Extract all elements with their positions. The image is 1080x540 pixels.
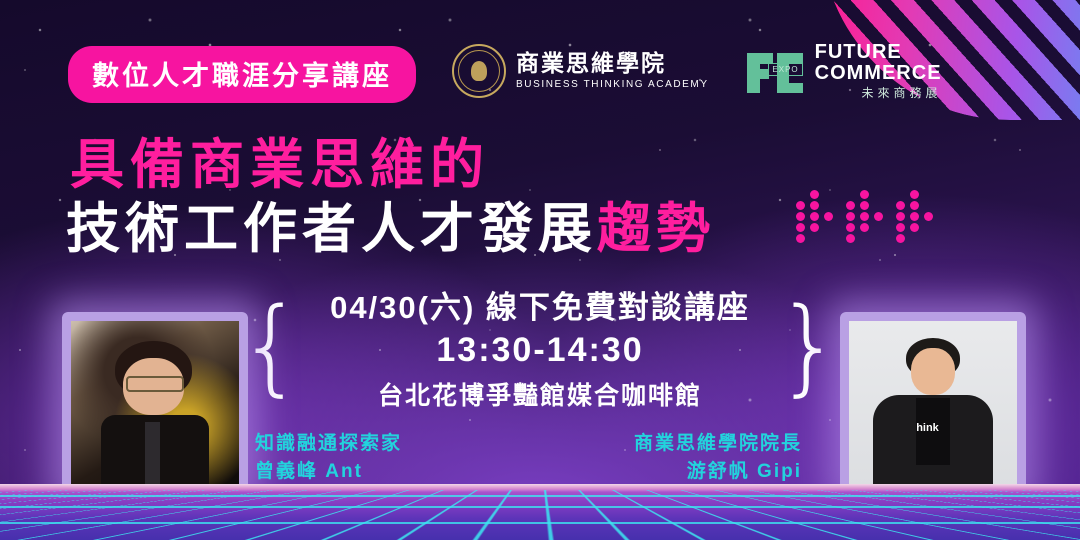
- speaker-caption-ant: 知識融通探索家 曾義峰 Ant: [255, 430, 402, 485]
- speaker-photo-gipi: hink: [840, 312, 1026, 498]
- event-time: 13:30-14:30: [330, 331, 750, 370]
- expo-tag: EXPO: [768, 63, 802, 76]
- headline-line-2: 技術工作者人才發展趨勢: [66, 184, 715, 263]
- event-details-text: 04/30(六) 線下免費對談講座 13:30-14:30 台北花博爭豔館媒合咖…: [330, 282, 750, 412]
- event-poster: 數位人才職涯分享講座 商業思維學院 BUSINESS THINKING ACAD…: [0, 0, 1080, 540]
- retro-perspective-grid-icon: [0, 484, 1080, 540]
- expo-name-line1: FUTURE: [815, 42, 942, 63]
- expo-name-line2: COMMERCE: [815, 63, 942, 84]
- logo-row: 商業思維學院 BUSINESS THINKING ACADEMY EXPO FU…: [452, 42, 942, 100]
- academy-seal-icon: [452, 44, 506, 98]
- academy-name-en: BUSINESS THINKING ACADEMY: [516, 80, 709, 90]
- event-date: 04/30(六) 線下免費對談講座: [330, 282, 750, 327]
- fc-expo-mark-icon: EXPO: [747, 47, 805, 95]
- headline-line-2-highlight: 趨勢: [597, 199, 715, 259]
- academy-logo-text: 商業思維學院 BUSINESS THINKING ACADEMY: [516, 52, 709, 90]
- headline-line-2-white: 技術工作者人才發展: [66, 199, 597, 259]
- speaker-title-gipi: 商業思維學院院長: [634, 430, 802, 458]
- expo-logo-text: FUTURE COMMERCE 未來商務展: [815, 42, 942, 100]
- speaker-name-ant: 曾義峰 Ant: [255, 458, 402, 486]
- triple-chevron-dots-icon: [796, 190, 938, 245]
- speaker-caption-gipi: 商業思維學院院長 游舒帆 Gipi: [634, 430, 802, 485]
- expo-name-cn: 未來商務展: [815, 87, 942, 100]
- speaker-name-gipi: 游舒帆 Gipi: [634, 458, 802, 486]
- academy-name-cn: 商業思維學院: [516, 52, 709, 75]
- brace-right: }: [776, 305, 842, 388]
- speaker-photo-ant: [62, 312, 248, 498]
- expo-logo: EXPO FUTURE COMMERCE 未來商務展: [747, 42, 942, 100]
- subtitle-badge: 數位人才職涯分享講座: [68, 46, 416, 103]
- event-place: 台北花博爭豔館媒合咖啡館: [330, 376, 750, 412]
- speaker-title-ant: 知識融通探索家: [255, 430, 402, 458]
- academy-logo: 商業思維學院 BUSINESS THINKING ACADEMY: [452, 44, 709, 98]
